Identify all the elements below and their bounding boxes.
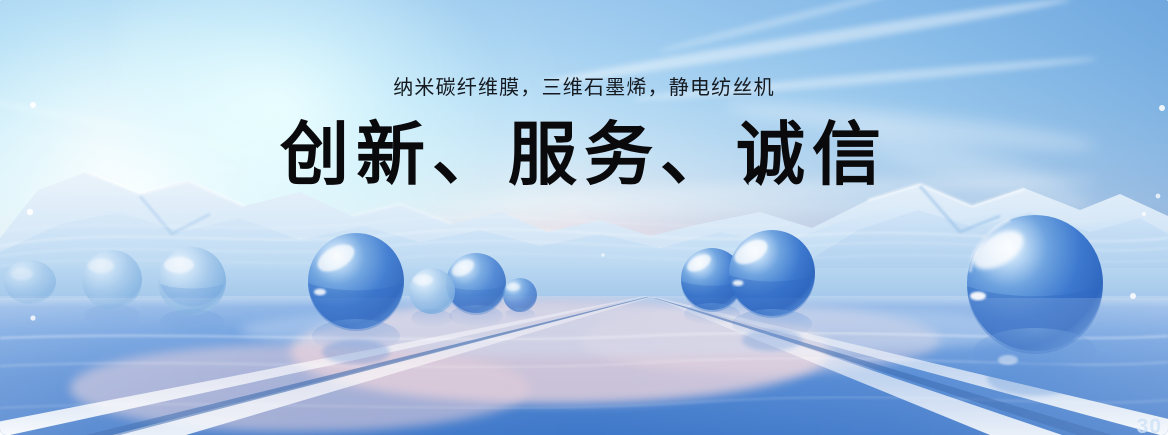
floor-sheen-overlay — [0, 298, 1168, 435]
hero-banner: 纳米碳纤维膜，三维石墨烯，静电纺丝机 创新、服务、诚信 30 — [0, 0, 1168, 435]
corner-page-mark: 30 — [1137, 415, 1162, 435]
